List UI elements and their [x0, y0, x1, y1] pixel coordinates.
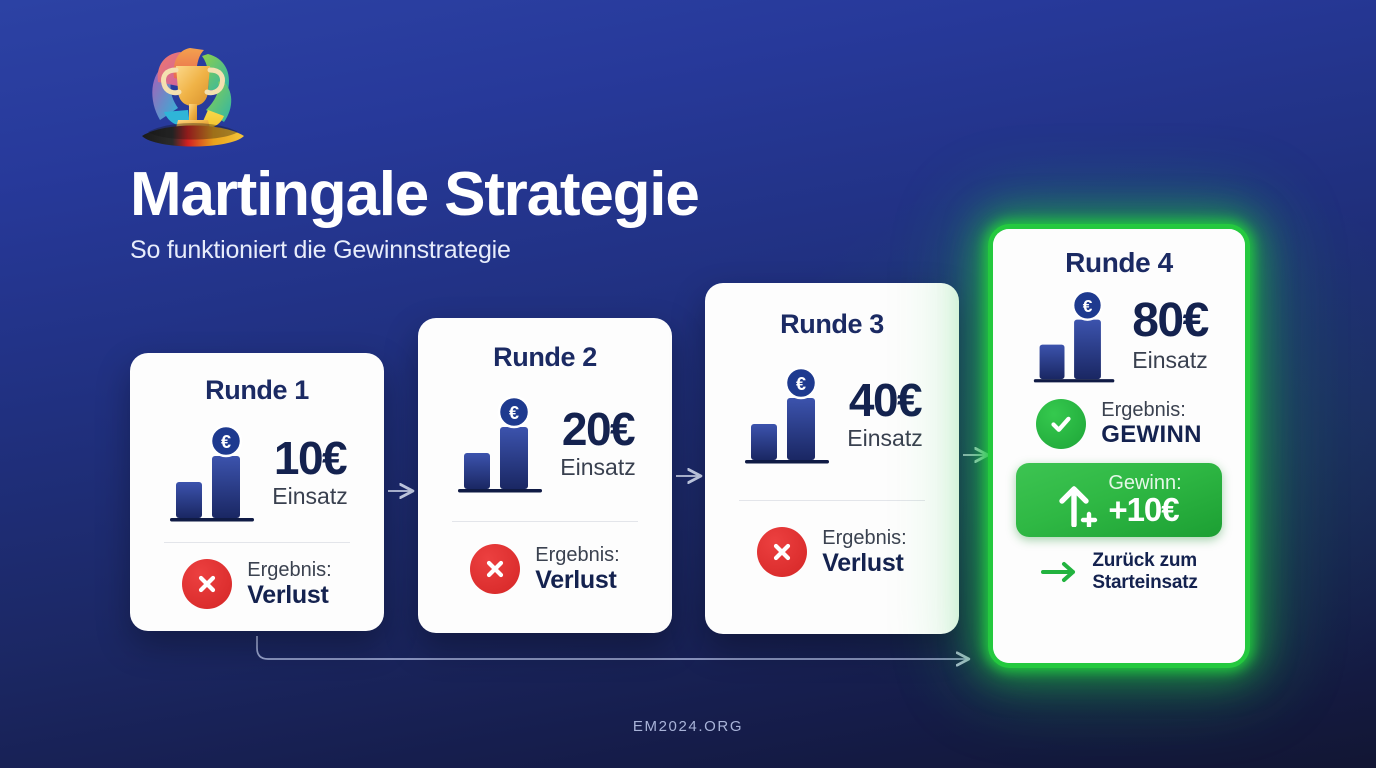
card-title: Runde 1: [205, 375, 309, 406]
round-card-2[interactable]: Runde 2 € 20€ Einsatz: [418, 318, 672, 633]
profit-amount: +10€: [1108, 493, 1178, 527]
result-row: Ergebnis: Verlust: [757, 527, 907, 577]
bar-chart-icon: €: [1030, 285, 1122, 385]
euro-coin-symbol: €: [509, 403, 519, 423]
up-arrow-plus-icon: [1056, 473, 1100, 527]
euro-coin-symbol: €: [1083, 296, 1093, 316]
result-row: Ergebnis: GEWINN: [1036, 399, 1201, 449]
back-to-start-line2: Starteinsatz: [1092, 572, 1197, 594]
stake-amount: 40€: [849, 377, 921, 423]
result-value: Verlust: [535, 566, 620, 594]
round-card-1[interactable]: Runde 1 € 10€ Einsatz: [130, 353, 384, 631]
infographic-canvas: Martingale Strategie So funktioniert die…: [0, 0, 1376, 768]
round-card-4-glow: Runde 4 € 80€ Einsatz: [988, 224, 1250, 668]
bar-chart-icon: €: [454, 391, 550, 495]
result-value: GEWINN: [1101, 422, 1201, 449]
round-card-3[interactable]: Runde 3 € 40€ Einsatz: [705, 283, 959, 634]
footer-brand: EM2024.ORG: [0, 718, 1376, 735]
euro-coin-symbol: €: [796, 374, 806, 394]
stake-row: € 10€ Einsatz: [166, 420, 347, 524]
stake-amount: 80€: [1132, 297, 1208, 345]
check-circle-icon: [1036, 399, 1086, 449]
bar-chart-icon: €: [741, 362, 837, 466]
result-label: Ergebnis:: [822, 527, 907, 549]
round-card-4[interactable]: Runde 4 € 80€ Einsatz: [993, 229, 1245, 663]
divider: [164, 542, 350, 543]
result-value: Verlust: [247, 581, 332, 609]
profit-badge[interactable]: Gewinn: +10€: [1016, 463, 1222, 537]
stake-row: € 20€ Einsatz: [454, 391, 635, 495]
card-title: Runde 4: [1065, 247, 1173, 279]
result-label: Ergebnis:: [1101, 399, 1201, 421]
close-circle-icon: [470, 544, 520, 594]
return-loop-arrow: [257, 636, 968, 659]
stake-label: Einsatz: [1132, 347, 1207, 374]
bar-chart-icon: €: [166, 420, 262, 524]
back-to-start-line1: Zurück zum: [1092, 550, 1197, 572]
result-row: Ergebnis: Verlust: [182, 559, 332, 609]
close-circle-icon: [757, 527, 807, 577]
stake-amount: 20€: [562, 406, 634, 452]
profit-label: Gewinn:: [1108, 473, 1181, 493]
card-title: Runde 3: [780, 309, 884, 340]
arrow-right-icon: [1040, 560, 1080, 584]
card-title: Runde 2: [493, 342, 597, 373]
result-label: Ergebnis:: [535, 544, 620, 566]
stake-row: € 40€ Einsatz: [741, 362, 922, 466]
stake-row: € 80€ Einsatz: [1030, 285, 1208, 385]
stake-label: Einsatz: [560, 454, 635, 481]
divider: [739, 500, 925, 501]
stake-label: Einsatz: [847, 425, 922, 452]
result-label: Ergebnis:: [247, 559, 332, 581]
close-circle-icon: [182, 559, 232, 609]
euro-coin-symbol: €: [221, 432, 231, 452]
result-row: Ergebnis: Verlust: [470, 544, 620, 594]
divider: [452, 521, 638, 522]
stake-label: Einsatz: [272, 483, 347, 510]
result-value: Verlust: [822, 549, 907, 577]
stake-amount: 10€: [274, 435, 346, 481]
back-to-start-row: Zurück zum Starteinsatz: [1040, 550, 1197, 594]
